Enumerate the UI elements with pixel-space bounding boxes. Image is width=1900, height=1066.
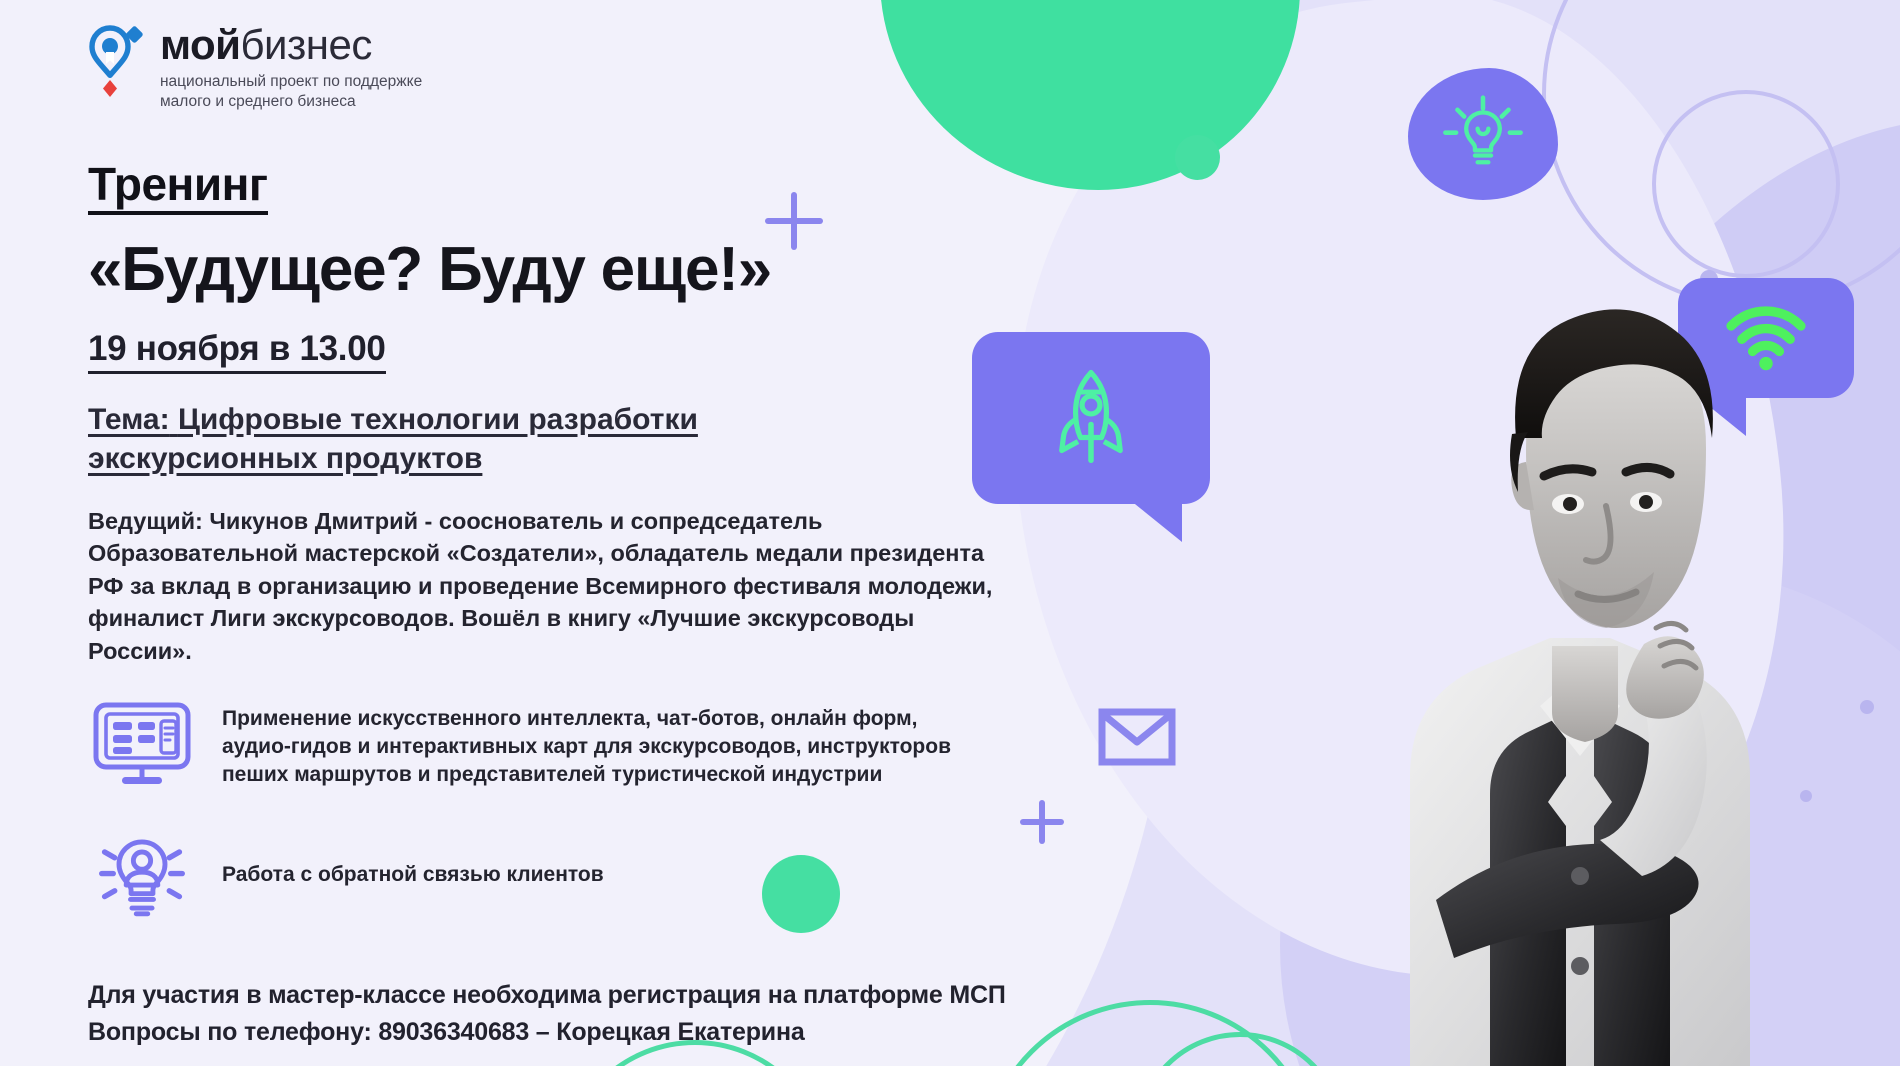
envelope-decoration xyxy=(1098,706,1176,768)
event-title: «Будущее? Буду еще!» xyxy=(88,237,1048,303)
topic-label: Тема: xyxy=(88,403,170,436)
location-pin-icon xyxy=(88,22,146,98)
envelope-icon xyxy=(1098,706,1176,768)
registration-note: Для участия в мастер-классе необходима р… xyxy=(88,977,1048,1015)
poster-canvas: мойбизнес национальный проект по поддерж… xyxy=(0,0,1900,1066)
logo-text: мойбизнес национальный проект по поддерж… xyxy=(160,18,422,112)
content-column: мойбизнес национальный проект по поддерж… xyxy=(88,18,1048,1052)
photo-man-thinking xyxy=(1240,176,1860,1066)
feature-text: Применение искусственного интеллекта, ча… xyxy=(222,701,952,789)
brand-logo[interactable]: мойбизнес национальный проект по поддерж… xyxy=(88,18,1048,112)
event-topic: Тема: Цифровые технологии разработки экс… xyxy=(88,400,898,479)
feature-icon-slot xyxy=(88,829,196,921)
feature-text: Работа с обратной связью клиентов xyxy=(222,861,604,889)
contact-note: Вопросы по телефону: 89036340683 – Корец… xyxy=(88,1014,1048,1052)
lightbulb-icon xyxy=(1440,91,1526,177)
presenter-photo-container xyxy=(1200,166,1900,1066)
logo-word-moy: мой xyxy=(160,21,241,68)
event-datetime: 19 ноября в 13.00 xyxy=(88,329,386,374)
feature-item: Применение искусственного интеллекта, ча… xyxy=(88,701,1048,789)
topic-text: Цифровые технологии разработки экскурсио… xyxy=(88,403,698,476)
monitor-dashboard-icon xyxy=(92,701,192,787)
logo-subtitle: национальный проект по поддержке малого … xyxy=(160,72,422,112)
logo-wordmark: мойбизнес xyxy=(160,24,422,66)
logo-subtitle-line2: малого и среднего бизнеса xyxy=(160,93,356,110)
event-kicker: Тренинг xyxy=(88,160,268,215)
feature-item: Работа с обратной связью клиентов xyxy=(88,829,1048,921)
logo-subtitle-line1: национальный проект по поддержке xyxy=(160,73,422,90)
logo-word-biznes: бизнес xyxy=(241,21,372,68)
footer-info: Для участия в мастер-классе необходима р… xyxy=(88,977,1048,1052)
lightbulb-person-icon xyxy=(96,829,188,921)
feature-icon-slot xyxy=(88,701,196,787)
presenter-bio: Ведущий: Чикунов Дмитрий - сооснователь … xyxy=(88,505,1013,667)
rocket-icon xyxy=(1039,366,1143,470)
